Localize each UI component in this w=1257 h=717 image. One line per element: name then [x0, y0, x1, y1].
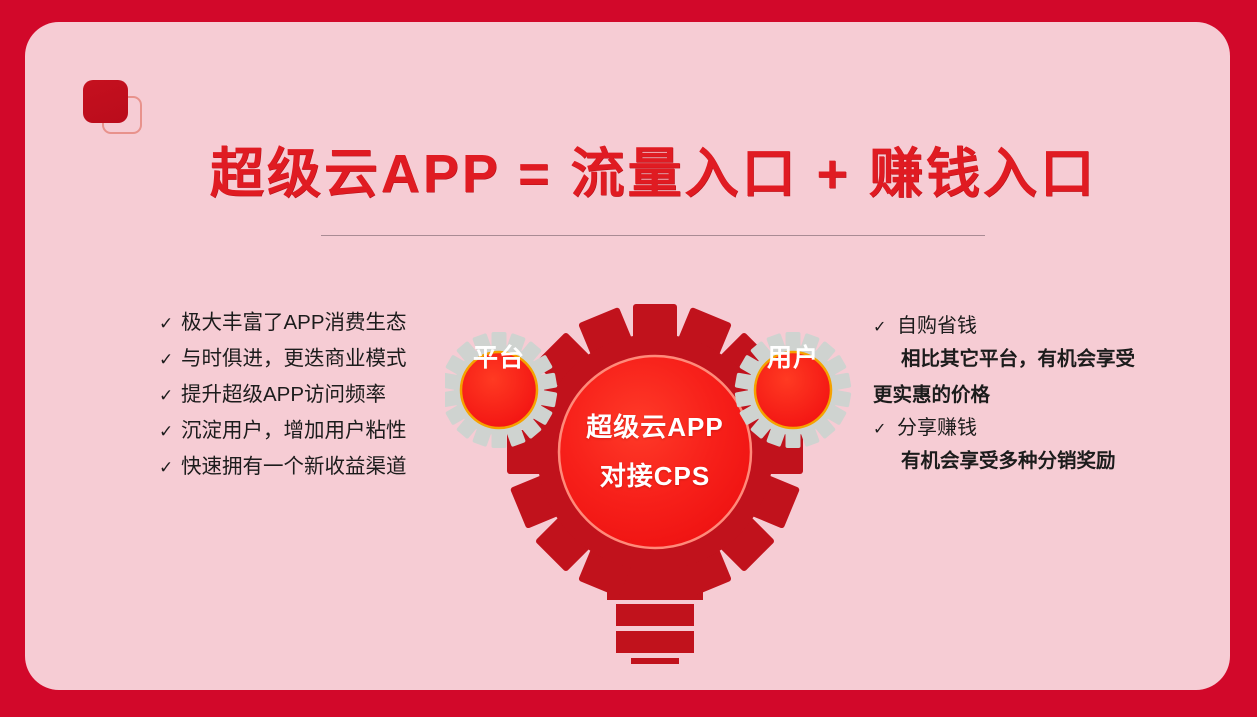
list-item-label: 极大丰富了APP消费生态 — [181, 310, 407, 336]
list-item: ✓ 与时俱进，更迭商业模式 — [159, 346, 449, 373]
page-title-wrap: 超级云APP = 流量入口 + 赚钱入口 — [25, 144, 1257, 204]
list-item-label: 沉淀用户，增加用户粘性 — [181, 418, 407, 444]
check-icon: ✓ — [159, 419, 181, 445]
check-icon: ✓ — [873, 314, 897, 342]
logo-front-square — [83, 80, 128, 123]
slide-canvas: 超级云APP = 流量入口 + 赚钱入口 ✓ 极大丰富了APP消费生态 ✓ 与时… — [0, 0, 1257, 717]
list-item-detail: 更实惠的价格 — [873, 380, 1183, 410]
list-item: ✓ 极大丰富了APP消费生态 — [159, 310, 449, 337]
right-gear — [735, 332, 852, 448]
content-card: 超级云APP = 流量入口 + 赚钱入口 ✓ 极大丰富了APP消费生态 ✓ 与时… — [25, 22, 1230, 690]
list-item: ✓ 沉淀用户，增加用户粘性 — [159, 418, 449, 445]
left-benefits-list: ✓ 极大丰富了APP消费生态 ✓ 与时俱进，更迭商业模式 ✓ 提升超级APP访问… — [159, 310, 449, 490]
logo-squares — [80, 78, 146, 136]
page-title: 超级云APP = 流量入口 + 赚钱入口 — [210, 144, 1097, 204]
list-item-detail: 相比其它平台，有机会享受 — [873, 344, 1183, 374]
title-divider — [321, 235, 985, 236]
check-icon: ✓ — [159, 455, 181, 481]
list-item-label: 提升超级APP访问频率 — [181, 382, 386, 408]
check-icon: ✓ — [159, 347, 181, 373]
list-item-label: 分享赚钱 — [897, 414, 977, 442]
list-item-label: 自购省钱 — [897, 312, 977, 340]
check-icon: ✓ — [873, 416, 897, 444]
right-benefits-list: ✓ 自购省钱 相比其它平台，有机会享受 更实惠的价格 ✓ 分享赚钱 有机会享受多… — [873, 312, 1183, 476]
list-item-label: 与时俱进，更迭商业模式 — [181, 346, 407, 372]
left-gear — [445, 332, 557, 448]
list-item: ✓ 分享赚钱 — [873, 414, 1183, 444]
list-item-detail: 有机会享受多种分销奖励 — [873, 446, 1183, 476]
bulb-gear-diagram: 超级云APP 对接CPS 平台 用户 — [445, 284, 865, 664]
list-item-label: 快速拥有一个新收益渠道 — [181, 454, 407, 480]
check-icon: ✓ — [159, 383, 181, 409]
check-icon: ✓ — [159, 311, 181, 337]
list-item: ✓ 快速拥有一个新收益渠道 — [159, 454, 449, 481]
list-item: ✓ 自购省钱 — [873, 312, 1183, 342]
list-item: ✓ 提升超级APP访问频率 — [159, 382, 449, 409]
